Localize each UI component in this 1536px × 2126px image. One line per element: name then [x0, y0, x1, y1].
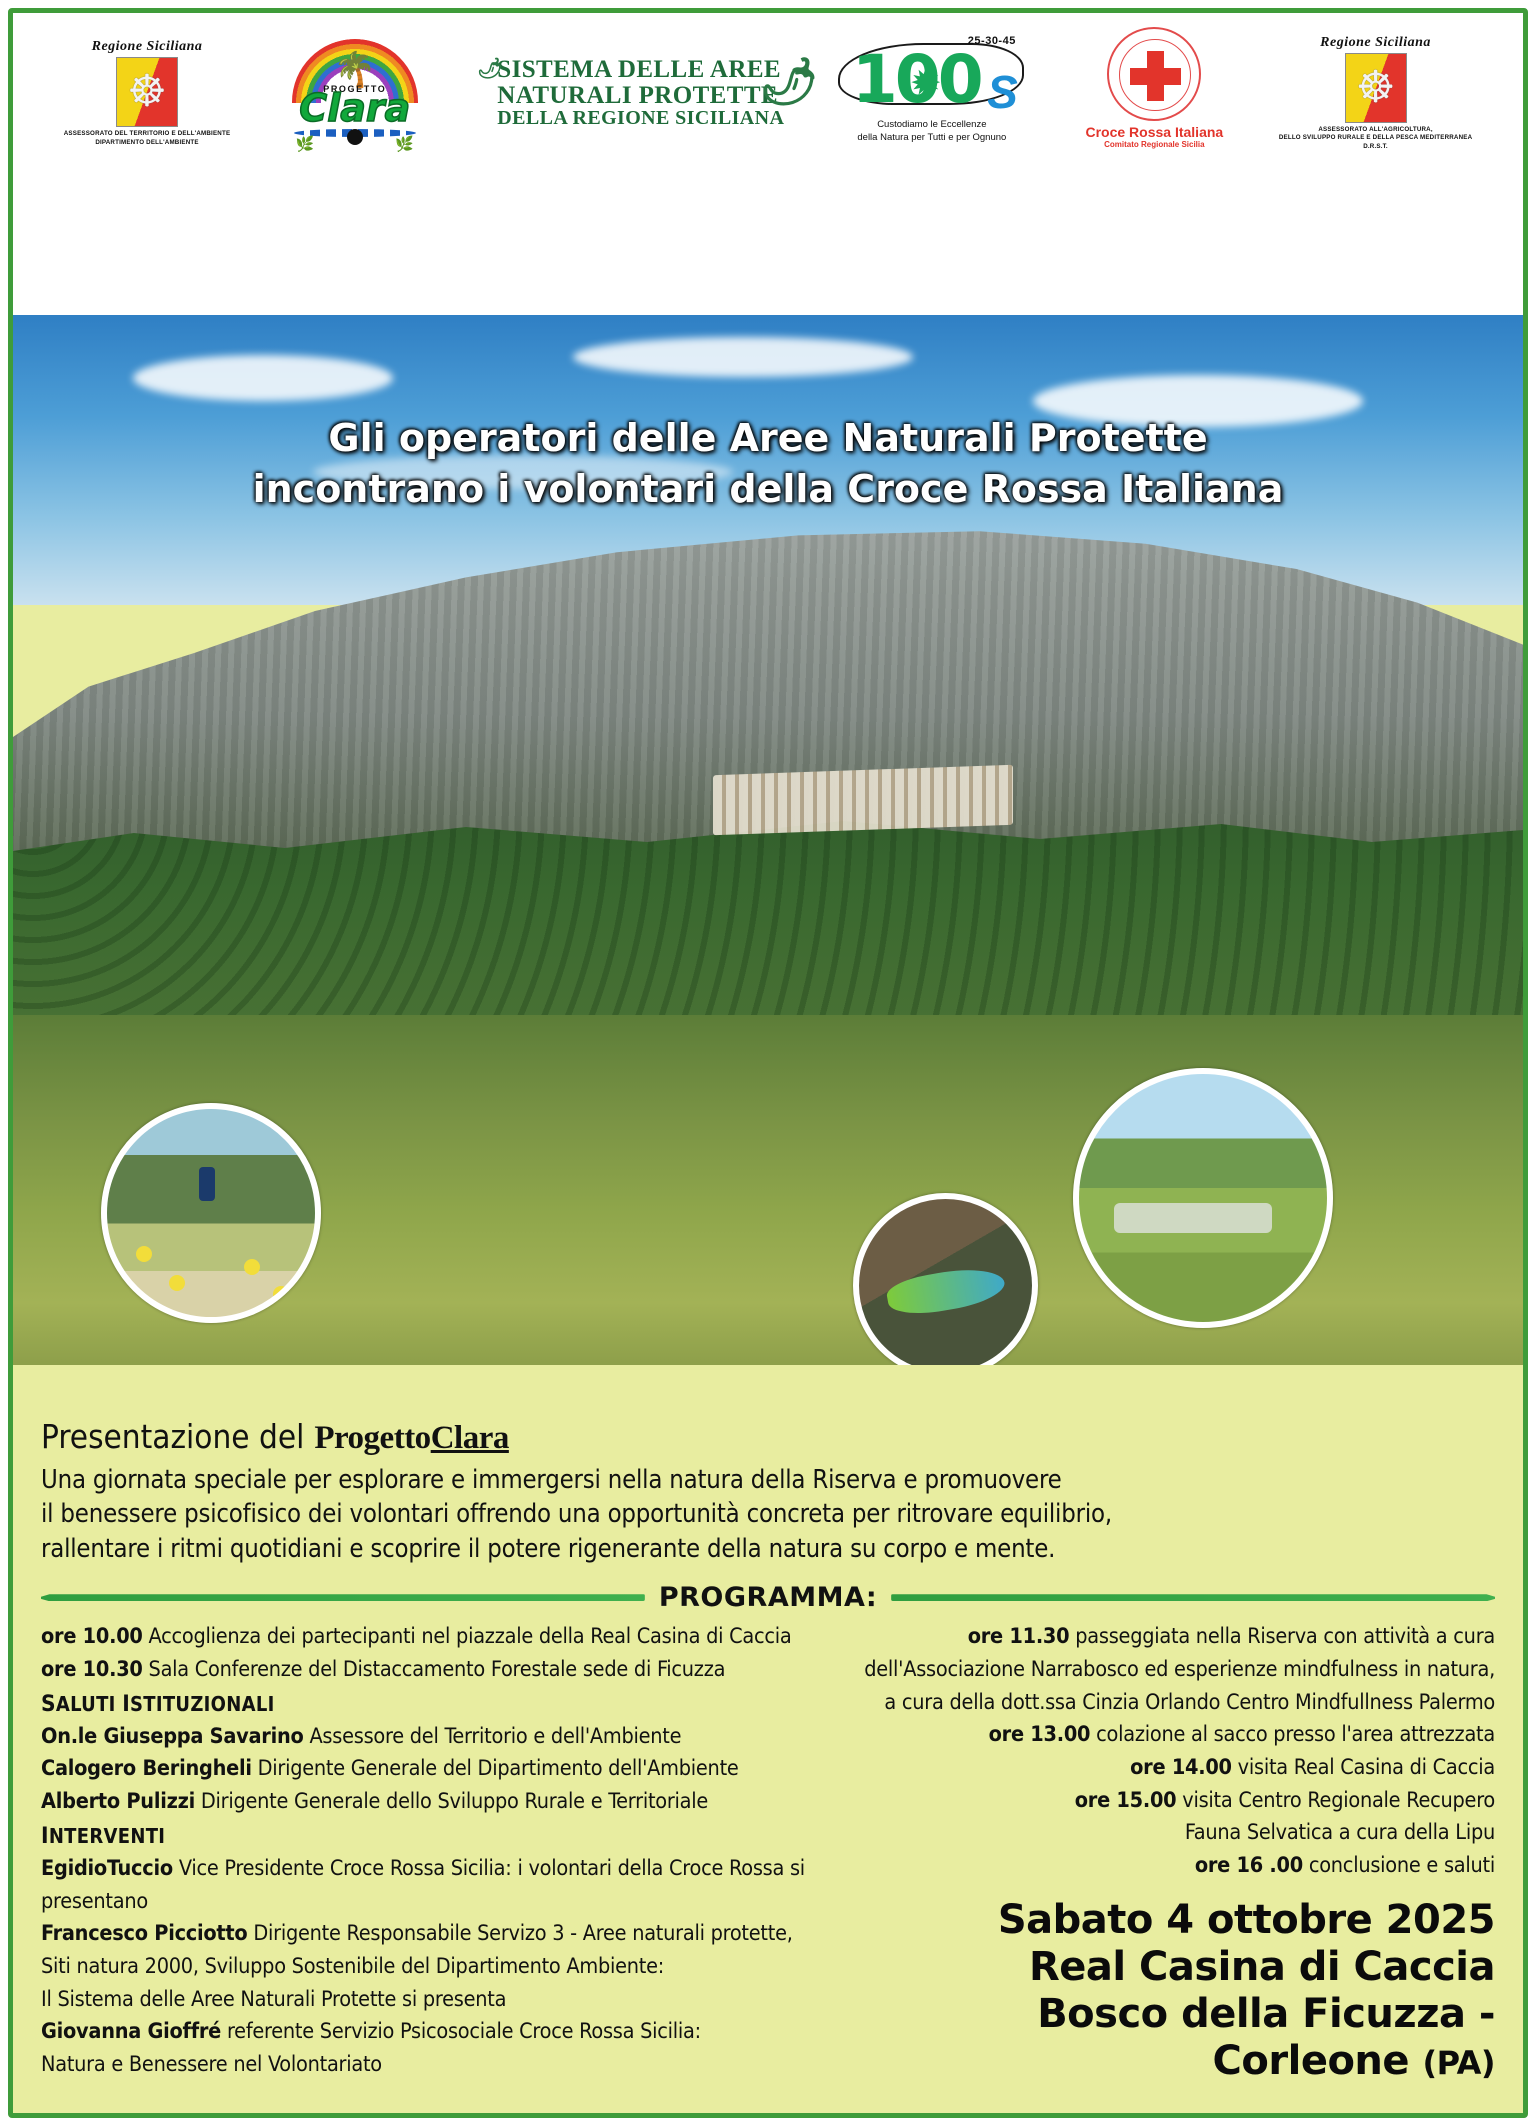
- event-date: Sabato 4 ottobre 2025: [840, 1897, 1495, 1944]
- cri-name: Croce Rossa Italiana: [1079, 124, 1229, 140]
- programme-columns: ore 10.00 Accoglienza dei partecipanti n…: [41, 1621, 1495, 2085]
- programme-line-label: EgidioTuccio: [41, 1856, 173, 1881]
- programme-line-label: Giovanna Gioffré: [41, 2019, 221, 2044]
- programme-line-text: Assessore del Territorio e dell'Ambiente: [309, 1724, 681, 1749]
- poster-inner: Regione Siciliana ☸ ASSESSORATO DEL TERR…: [13, 13, 1523, 2113]
- programme-line: Il Sistema delle Aree Naturali Protette …: [41, 1984, 826, 2017]
- brand-first-word: Progetto: [314, 1420, 430, 1456]
- countryside-greenhouse-photo: [1073, 1068, 1333, 1328]
- regione-left-title: Regione Siciliana: [64, 39, 231, 55]
- clara-dot-icon: [347, 129, 363, 145]
- programme-heading: PROGRAMMA:: [659, 1582, 877, 1613]
- body-content: Presentazione del ProgettoClara Una gior…: [13, 1365, 1523, 2113]
- hero-headline-line-1: Gli operatori delle Aree Naturali Protet…: [53, 413, 1483, 464]
- rainbow-palm-icon: 🌴 PROGETTO Clara 🌿 🌿: [280, 37, 430, 149]
- hero-headline-line-2: incontrano i volontari della Croce Rossa…: [53, 464, 1483, 515]
- trinacria-icon: ☸: [116, 57, 178, 127]
- programme-line: Calogero Beringheli Dirigente Generale d…: [41, 1753, 826, 1786]
- programme-line-label: ore 11.30: [968, 1624, 1070, 1649]
- lizard-icon: [884, 1262, 1006, 1320]
- anniversary-icon: 25-30-45 100 ✹ S Custodiamo le Eccellenz…: [834, 31, 1030, 155]
- greenhouse-icon: [1114, 1203, 1273, 1233]
- green-lizard-photo: [853, 1193, 1038, 1378]
- programme-section-label: SALUTI ISTITUZIONALI: [41, 1692, 275, 1716]
- programme-line: dell'Associazione Narrabosco ed esperien…: [840, 1654, 1495, 1687]
- river-swoosh-icon: S: [987, 69, 1018, 115]
- programme-line: ore 10.00 Accoglienza dei partecipanti n…: [41, 1621, 826, 1654]
- hiker-wildflowers-photo: [101, 1103, 321, 1323]
- logo-sistema-aree-protette: 🌶 SISTEMA DELLE AREE NATURALI PROTETTE D…: [479, 57, 784, 128]
- small-dragon-icon: 🌶: [477, 59, 502, 79]
- programme-line-text: Sala Conferenze del Distaccamento Forest…: [149, 1657, 726, 1682]
- sistema-line-2: NATURALI PROTETTE: [497, 83, 784, 109]
- programme-line-label: ore 14.00: [1130, 1755, 1232, 1780]
- anniversary-tagline-2: della Natura per Tutti e per Ognuno: [834, 132, 1030, 143]
- programme-right-lines: ore 11.30 passeggiata nella Riserva con …: [840, 1621, 1495, 1882]
- leaf-left-icon: 🌿: [296, 135, 315, 153]
- programme-line-text: Dirigente Generale del Dipartimento dell…: [258, 1756, 739, 1781]
- programme-line-label: ore 16 .00: [1195, 1853, 1303, 1878]
- programme-column-right: ore 11.30 passeggiata nella Riserva con …: [840, 1621, 1495, 2085]
- programme-line: Francesco Picciotto Dirigente Responsabi…: [41, 1918, 826, 1951]
- logo-regione-siciliana-agricoltura: Regione Siciliana ☸ ASSESSORATO ALL'AGRI…: [1279, 35, 1472, 151]
- cloud-2-icon: [573, 337, 913, 377]
- programme-line-text: Dirigente Responsabile Servizo 3 - Aree …: [253, 1921, 792, 1946]
- programme-line-text: visita Real Casina di Caccia: [1238, 1755, 1495, 1780]
- programme-line-text: Natura e Benessere nel Volontariato: [41, 2052, 382, 2077]
- leaf-right-icon: 🌿: [395, 135, 414, 153]
- paragraph-line-3: rallentare i ritmi quotidiani e scoprire…: [41, 1532, 1495, 1566]
- trinacria-glyph: ☸: [127, 70, 166, 114]
- logo-centenario: 25-30-45 100 ✹ S Custodiamo le Eccellenz…: [834, 31, 1030, 155]
- poster-root: Regione Siciliana ☸ ASSESSORATO DEL TERR…: [0, 0, 1536, 2126]
- programme-line-text: a cura della dott.ssa Cinzia Orlando Cen…: [884, 1690, 1495, 1715]
- hero-headline: Gli operatori delle Aree Naturali Protet…: [13, 413, 1523, 516]
- programme-line-text: dell'Associazione Narrabosco ed esperien…: [864, 1657, 1495, 1682]
- programme-line: Siti natura 2000, Sviluppo Sostenibile d…: [41, 1951, 826, 1984]
- programme-line-text: colazione al sacco presso l'area attrezz…: [1096, 1722, 1495, 1747]
- brand-second-word: Clara: [431, 1420, 509, 1456]
- programme-line-label: Alberto Pulizzi: [41, 1789, 195, 1814]
- trinacria-icon-right: ☸: [1345, 53, 1407, 123]
- anniversary-tagline-1: Custodiamo le Eccellenze: [834, 119, 1030, 130]
- regione-left-subtitle: ASSESSORATO DEL TERRITORIO E DELL'AMBIEN…: [64, 130, 231, 147]
- paragraph-line-2: il benessere psicofisico dei volontari o…: [41, 1497, 1495, 1531]
- programme-line-text: conclusione e saluti: [1309, 1853, 1495, 1878]
- programme-line-label: ore 10.30: [41, 1657, 143, 1682]
- event-details: Sabato 4 ottobre 2025 Real Casina di Cac…: [840, 1897, 1495, 2086]
- programme-line-label: ore 10.00: [41, 1624, 143, 1649]
- regione-right-subtitle: ASSESSORATO ALL'AGRICOLTURA, DELLO SVILU…: [1279, 126, 1472, 151]
- programme-line: Giovanna Gioffré referente Servizio Psic…: [41, 2016, 826, 2049]
- sistema-wordmark: 🌶 SISTEMA DELLE AREE NATURALI PROTETTE D…: [479, 57, 784, 128]
- programme-line: ore 13.00 colazione al sacco presso l'ar…: [840, 1719, 1495, 1752]
- programme-line: ore 14.00 visita Real Casina di Caccia: [840, 1752, 1495, 1785]
- programme-line: Natura e Benessere nel Volontariato: [41, 2049, 826, 2082]
- village-houses: [713, 765, 1013, 835]
- programme-line: ore 16 .00 conclusione e saluti: [840, 1850, 1495, 1883]
- cross-horizontal-bar: [1130, 68, 1181, 85]
- event-venue: Real Casina di Caccia: [840, 1944, 1495, 1991]
- programme-line-label: ore 13.00: [989, 1722, 1091, 1747]
- regione-right-title: Regione Siciliana: [1279, 35, 1472, 51]
- programme-line-text: passeggiata nella Riserva con attività a…: [1075, 1624, 1495, 1649]
- presentation-paragraph: Una giornata speciale per esplorare e im…: [41, 1463, 1495, 1566]
- title-band: [13, 173, 1523, 333]
- programme-section-label: INTERVENTI: [41, 1824, 165, 1848]
- programme-line: Fauna Selvatica a cura della Lipu: [840, 1817, 1495, 1850]
- programme-line: a cura della dott.ssa Cinzia Orlando Cen…: [840, 1687, 1495, 1720]
- programme-line: EgidioTuccio Vice Presidente Croce Rossa…: [41, 1853, 826, 1918]
- programme-line-text: Dirigente Generale dello Sviluppo Rurale…: [201, 1789, 708, 1814]
- programme-line: ore 15.00 visita Centro Regionale Recupe…: [840, 1785, 1495, 1818]
- presentation-lead: Presentazione del: [41, 1417, 304, 1456]
- programme-rule-right: [891, 1592, 1495, 1603]
- programme-line: ore 11.30 passeggiata nella Riserva con …: [840, 1621, 1495, 1654]
- programme-line: On.le Giuseppa Savarino Assessore del Te…: [41, 1721, 826, 1754]
- progetto-clara-brand: ProgettoClara: [314, 1420, 509, 1457]
- sunburst-tree-icon: ✹: [910, 65, 942, 103]
- cri-seal: CONVENZIONE DI GINEVRA 22 AGOSTO 1864: [1107, 27, 1201, 121]
- programme-column-left: ore 10.00 Accoglienza dei partecipanti n…: [41, 1621, 826, 2085]
- trinacria-glyph-right: ☸: [1356, 66, 1395, 110]
- paragraph-line-1: Una giornata speciale per esplorare e im…: [41, 1463, 1495, 1497]
- programme-line-label: ore 15.00: [1075, 1788, 1177, 1813]
- palm-tree-icon: 🌴: [334, 53, 376, 87]
- event-location: Bosco della Ficuzza - Corleone (PA): [840, 1991, 1495, 2085]
- programme-line-text: referente Servizio Psicosociale Croce Ro…: [227, 2019, 701, 2044]
- sistema-line-3: DELLA REGIONE SICILIANA: [497, 108, 784, 128]
- programme-line-label: Francesco Picciotto: [41, 1921, 247, 1946]
- cri-committee: Comitato Regionale Sicilia: [1079, 140, 1229, 149]
- programme-line-label: Calogero Beringheli: [41, 1756, 252, 1781]
- programme-line-text: Siti natura 2000, Sviluppo Sostenibile d…: [41, 1954, 664, 1979]
- logo-regione-siciliana-ambiente: Regione Siciliana ☸ ASSESSORATO DEL TERR…: [64, 39, 231, 147]
- programme-heading-row: PROGRAMMA:: [41, 1582, 1495, 1613]
- programme-rule-left: [41, 1592, 645, 1603]
- red-cross-icon: CONVENZIONE DI GINEVRA 22 AGOSTO 1864 Cr…: [1079, 27, 1229, 159]
- programme-line-text: Fauna Selvatica a cura della Lipu: [1185, 1820, 1495, 1845]
- programme-line: ore 10.30 Sala Conferenze del Distaccame…: [41, 1654, 826, 1687]
- dragon-icon: 🌶: [760, 61, 818, 102]
- programme-line-text: Il Sistema delle Aree Naturali Protette …: [41, 1987, 506, 2012]
- programme-line-label: On.le Giuseppa Savarino: [41, 1724, 304, 1749]
- logo-strip: Regione Siciliana ☸ ASSESSORATO DEL TERR…: [13, 13, 1523, 173]
- sistema-line-1: SISTEMA DELLE AREE: [497, 57, 784, 83]
- programme-line-text: visita Centro Regionale Recupero: [1182, 1788, 1495, 1813]
- logo-progetto-clara: 🌴 PROGETTO Clara 🌿 🌿: [280, 37, 430, 149]
- clara-wordmark: Clara: [299, 89, 410, 127]
- event-location-province: (PA): [1422, 2044, 1495, 2082]
- cloud-1-icon: [133, 355, 393, 401]
- programme-line: Alberto Pulizzi Dirigente Generale dello…: [41, 1786, 826, 1819]
- programme-line: INTERVENTI: [41, 1819, 826, 1853]
- programme-line: SALUTI ISTITUZIONALI: [41, 1687, 826, 1721]
- logo-croce-rossa-italiana: CONVENZIONE DI GINEVRA 22 AGOSTO 1864 Cr…: [1079, 27, 1229, 159]
- presentation-heading: Presentazione del ProgettoClara: [41, 1417, 1495, 1457]
- programme-line-text: Accoglienza dei partecipanti nel piazzal…: [149, 1624, 792, 1649]
